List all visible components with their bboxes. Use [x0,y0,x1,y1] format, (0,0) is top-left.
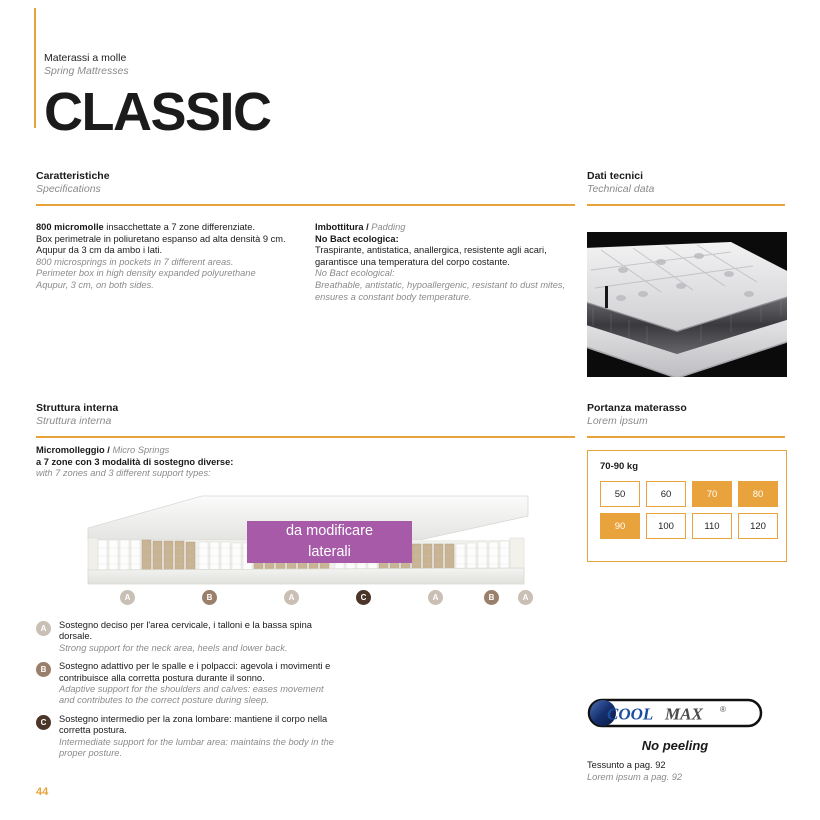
specs-right-copy: Imbottitura / Padding No Bact ecologica:… [315,222,577,303]
legend-text-it: Sostegno intermedio per la zona lombare:… [59,714,336,737]
technical-divider [587,204,785,206]
technical-section-heading: Dati tecnici Technical data [587,170,785,206]
mattress-photo-illustration [587,240,787,377]
legend-text: Sostegno intermedio per la zona lombare:… [59,714,336,760]
coolmax-registered-mark: ® [720,705,726,714]
padding-title-en: Padding [371,222,405,232]
legend-badge-c: C [36,715,51,730]
structure-zones-it: a 7 zone con 3 modalità di sostegno dive… [36,457,233,467]
weight-cell-120[interactable]: 120 [738,513,778,539]
legend-item-b: BSostegno adattivo per le spalle e i pol… [36,661,336,707]
weight-cell-100[interactable]: 100 [646,513,686,539]
weight-cell-70[interactable]: 70 [692,481,732,507]
specs-heading-it: Caratteristiche [36,170,575,183]
zone-marker-a-4: A [428,590,443,605]
padding-line1: Traspirante, antistatica, anallergica, r… [315,245,577,257]
legend-text-it: Sostegno adattivo per le spalle e i polp… [59,661,336,684]
overlay-note-line1: da modificare [286,521,373,542]
capacity-section-heading: Portanza materasso Lorem ipsum [587,402,785,438]
page-title: CLASSIC [44,84,544,140]
padding-en2: ensures a constant body temperature. [315,292,577,304]
capacity-heading-it: Portanza materasso [587,402,785,415]
page-header: Materassi a molle Spring Mattresses CLAS… [44,52,544,140]
specs-left-copy: 800 micromolle insacchettate a 7 zone di… [36,222,306,292]
weight-capacity-box: 70-90 kg 5060708090100110120 [587,450,787,562]
specs-heading-en: Specifications [36,183,575,196]
structure-subcopy: Micromolleggio / Micro Springs a 7 zone … [36,445,336,480]
padding-title-it: Imbottitura / [315,222,371,232]
overlay-note-line2: laterali [308,542,351,563]
structure-divider [36,436,575,438]
zone-marker-b-5: B [484,590,499,605]
specs-en2: Perimeter box in high density expanded p… [36,268,306,280]
mattress-product-photo [587,232,787,377]
legend-text-en: Intermediate support for the lumbar area… [59,737,336,760]
page-number: 44 [36,786,48,798]
legend-text-en: Strong support for the neck area, heels … [59,643,336,654]
coolmax-foot-it: Tessunto a pag. 92 [587,760,787,772]
padding-line2: garantisce una temperatura del corpo cos… [315,257,577,269]
coolmax-text-max: MAX [664,705,703,724]
structure-section-heading: Struttura interna Struttura interna [36,402,575,438]
coolmax-logo: COOL MAX ® [587,698,763,728]
catalog-page: Materassi a molle Spring Mattresses CLAS… [0,0,820,820]
specs-en3: Aqupur, 3 cm, on both sides. [36,280,306,292]
padding-sub-it: No Bact ecologica: [315,234,399,244]
legend-text: Sostegno adattivo per le spalle e i polp… [59,661,336,707]
legend-text-en: Adaptive support for the shoulders and c… [59,684,336,707]
specs-line3: Aqupur da 3 cm da ambo i lati. [36,245,306,257]
weight-cell-60[interactable]: 60 [646,481,686,507]
zone-marker-a-0: A [120,590,135,605]
structure-heading-it: Struttura interna [36,402,575,415]
zone-marker-row: ABACABA [84,590,532,612]
header-accent-rule [34,8,36,128]
weight-cell-90[interactable]: 90 [600,513,640,539]
microsprings-label-en: Micro Springs [112,445,169,455]
weight-range-label: 70-90 kg [600,461,786,472]
capacity-heading-en: Lorem ipsum [587,415,785,428]
legend-item-a: ASostegno deciso per l'area cervicale, i… [36,620,336,654]
header-kicker-it: Materassi a molle [44,52,544,65]
technical-heading-it: Dati tecnici [587,170,785,183]
capacity-divider [587,436,785,438]
legend-item-c: CSostegno intermedio per la zona lombare… [36,714,336,760]
weight-cell-80[interactable]: 80 [738,481,778,507]
specs-en1: 800 microsprings in pockets in 7 differe… [36,257,306,269]
support-zone-legend: ASostegno deciso per l'area cervicale, i… [36,620,336,766]
legend-text-it: Sostegno deciso per l'area cervicale, i … [59,620,336,643]
structure-heading-en: Struttura interna [36,415,575,428]
zone-marker-b-1: B [202,590,217,605]
legend-badge-b: B [36,662,51,677]
coolmax-tagline: No peeling [587,738,763,753]
coolmax-block: COOL MAX ® No peeling Tessunto a pag. 92… [587,698,787,783]
legend-badge-a: A [36,621,51,636]
technical-heading-en: Technical data [587,183,785,196]
specs-divider [36,204,575,206]
weight-cell-110[interactable]: 110 [692,513,732,539]
zone-marker-a-2: A [284,590,299,605]
padding-en1: Breathable, antistatic, hypoallergenic, … [315,280,577,292]
header-kicker-en: Spring Mattresses [44,65,544,78]
specs-line1-rest: insacchettate a 7 zone differenziate. [104,222,255,232]
specs-springs-count: 800 micromolle [36,222,104,232]
coolmax-text-cool: COOL [607,705,653,724]
structure-zones-en: with 7 zones and 3 different support typ… [36,468,336,480]
specs-section-heading: Caratteristiche Specifications [36,170,575,206]
specs-line2: Box perimetrale in poliuretano espanso a… [36,234,306,246]
weight-cell-50[interactable]: 50 [600,481,640,507]
zone-marker-a-6: A [518,590,533,605]
legend-text: Sostegno deciso per l'area cervicale, i … [59,620,336,654]
microsprings-label-it: Micromolleggio / [36,445,112,455]
coolmax-foot-en: Lorem ipsum a pag. 92 [587,772,787,784]
padding-sub-en: No Bact ecological: [315,268,577,280]
annotation-overlay-note: da modificare laterali [247,521,412,563]
weight-value-grid: 5060708090100110120 [600,481,786,539]
zone-marker-c-3: C [356,590,371,605]
